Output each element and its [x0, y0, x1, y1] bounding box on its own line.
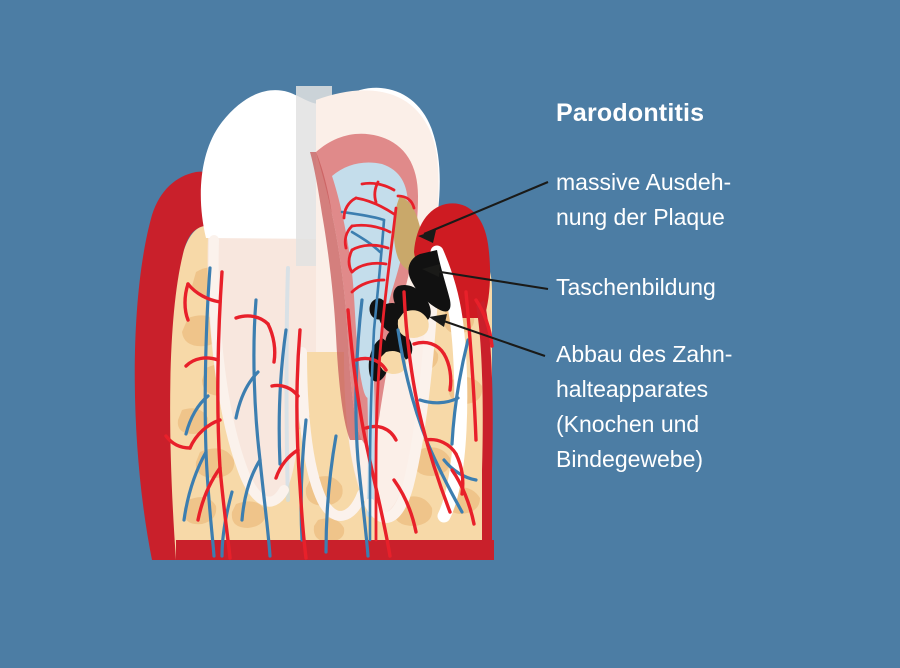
callout-pocket: Taschenbildung	[556, 270, 716, 305]
illustration-page: Parodontitis massive Ausdeh- nung der Pl…	[0, 0, 900, 668]
callout-plaque: massive Ausdeh- nung der Plaque	[556, 165, 731, 235]
label-layer: Parodontitis massive Ausdeh- nung der Pl…	[0, 0, 900, 668]
page-title: Parodontitis	[556, 99, 704, 128]
callout-bone-loss: Abbau des Zahn- halteapparates (Knochen …	[556, 337, 732, 477]
